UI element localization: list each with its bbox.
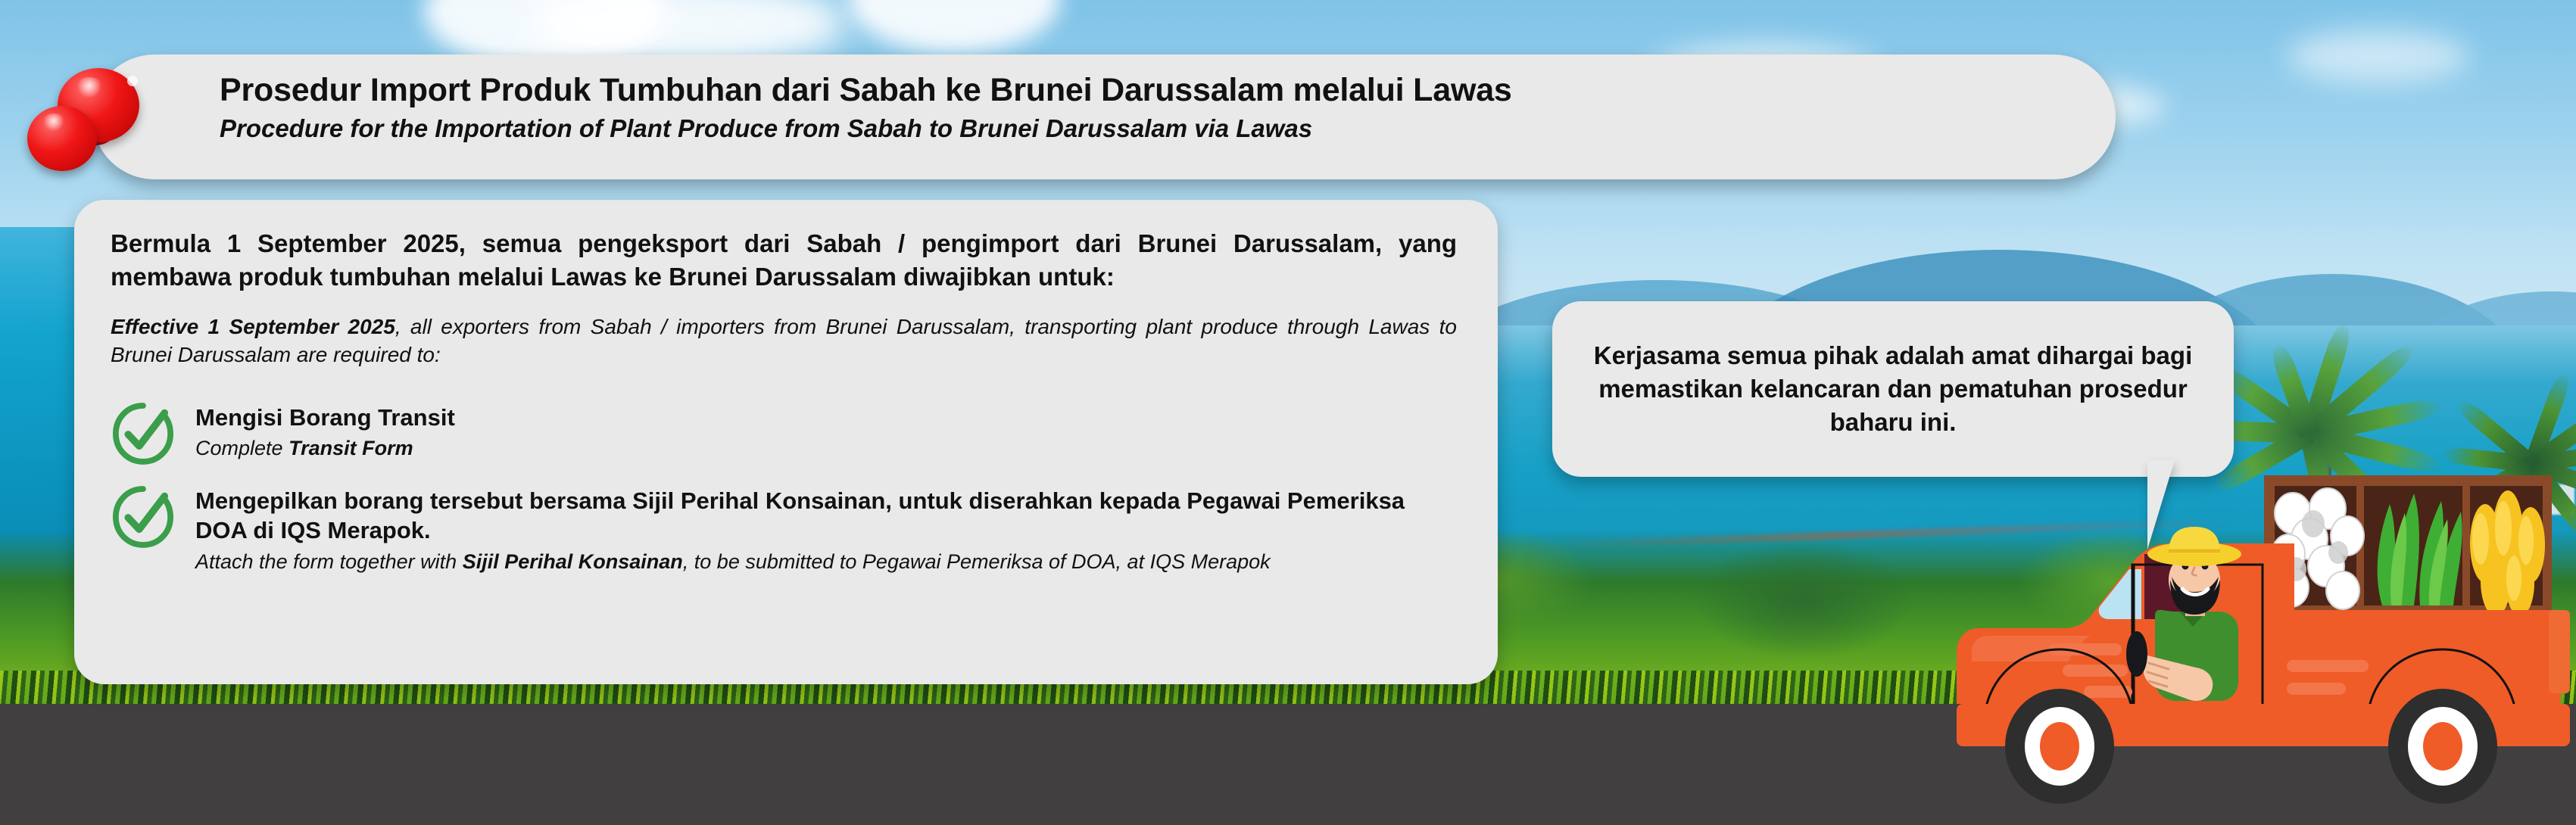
page-title: Prosedur Import Produk Tumbuhan dari Sab… xyxy=(220,71,2081,110)
list-item-en-bold: Transit Form xyxy=(288,437,413,459)
list-item-en-bold: Sijil Perihal Konsainan xyxy=(463,550,683,573)
list-item-en-lead: Attach the form together with xyxy=(195,550,463,573)
check-circle-icon xyxy=(111,484,185,549)
speech-bubble-text: Kerjasama semua pihak adalah amat diharg… xyxy=(1578,339,2208,440)
list-item-en-tail: , to be submitted to Pegawai Pemeriksa o… xyxy=(683,550,1271,573)
pickup-truck-icon xyxy=(1938,454,2576,825)
check-circle-icon xyxy=(111,401,185,466)
speech-bubble: Kerjasama semua pihak adalah amat diharg… xyxy=(1552,301,2234,477)
list-item-text: Mengisi Borang Transit Complete Transit … xyxy=(195,400,1457,462)
cloud xyxy=(2287,30,2468,83)
list-item-label-en: Complete Transit Form xyxy=(195,435,1457,462)
intro-paragraph-en: Effective 1 September 2025, all exporter… xyxy=(111,313,1457,369)
list-item-label-ms: Mengepilkan borang tersebut bersama Siji… xyxy=(195,486,1457,546)
list-item-label-ms: Mengisi Borang Transit xyxy=(195,403,1457,433)
title-card: Prosedur Import Produk Tumbuhan dari Sab… xyxy=(92,54,2116,179)
intro-date-en: Effective 1 September 2025 xyxy=(111,315,395,338)
list-item-label-en: Attach the form together with Sijil Peri… xyxy=(195,549,1457,575)
intro-date-ms: Bermula 1 September 2025, xyxy=(111,229,466,257)
list-item: Mengisi Borang Transit Complete Transit … xyxy=(111,400,1457,466)
main-content-card: Bermula 1 September 2025, semua pengeksp… xyxy=(74,200,1498,684)
list-item-en-lead: Complete xyxy=(195,437,288,459)
requirements-checklist: Mengisi Borang Transit Complete Transit … xyxy=(111,400,1457,575)
list-item-text: Mengepilkan borang tersebut bersama Siji… xyxy=(195,483,1457,575)
page-subtitle: Procedure for the Importation of Plant P… xyxy=(220,114,2081,144)
list-item: Mengepilkan borang tersebut bersama Siji… xyxy=(111,483,1457,575)
pushpin-icon xyxy=(27,59,171,188)
intro-paragraph-ms: Bermula 1 September 2025, semua pengeksp… xyxy=(111,227,1457,294)
